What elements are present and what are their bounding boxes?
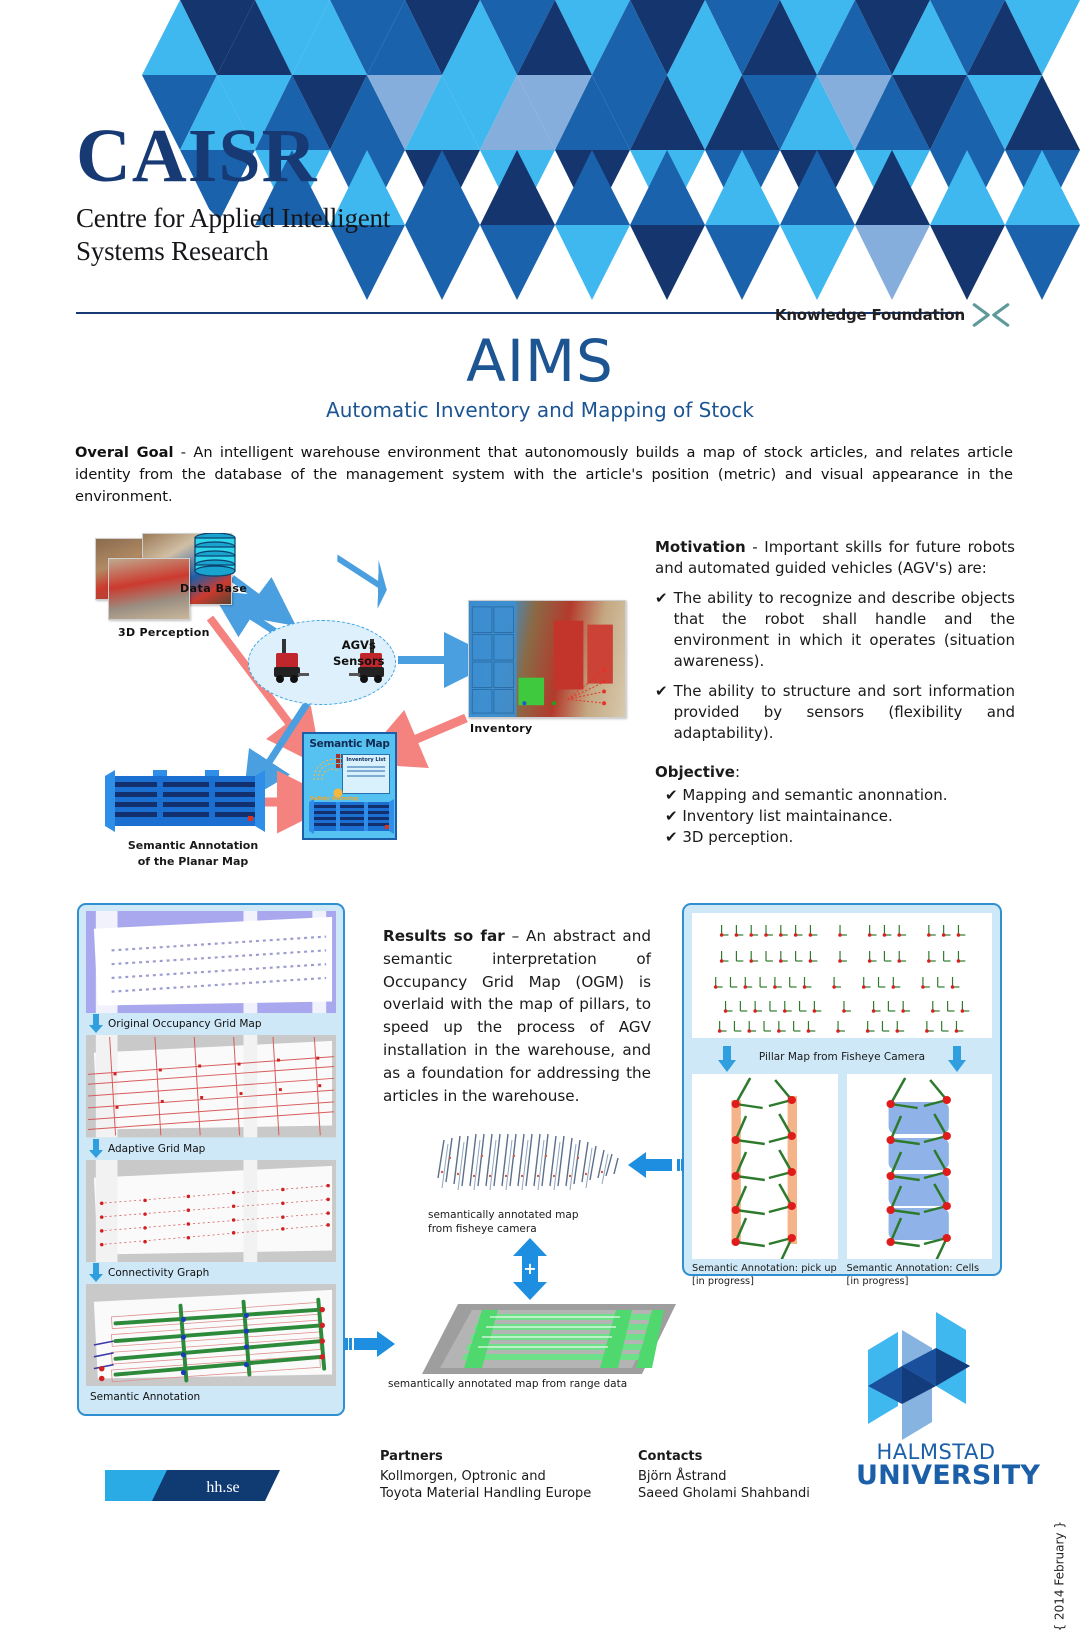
objective-item: ✔ Inventory list maintainance. xyxy=(655,807,1015,825)
caisr-subtitle: Centre for Applied Intelligent Systems R… xyxy=(76,202,776,268)
connectivity-graph-image xyxy=(86,1160,336,1262)
range-map-caption: semantically annotated map from range da… xyxy=(388,1378,627,1390)
motivation-bullet: ✔ The ability to structure and sort info… xyxy=(655,681,1015,745)
overall-goal-label: Overal Goal xyxy=(75,444,173,461)
partners-heading: Partners xyxy=(380,1449,591,1464)
motivation-bullet-text: The ability to recognize and describe ob… xyxy=(674,588,1015,673)
semantic-annotation-pickup-caption: Semantic Annotation: pick up [in progres… xyxy=(692,1263,838,1288)
inventory-photo xyxy=(468,600,626,718)
pipeline-step-caption: Connectivity Graph xyxy=(86,1262,336,1284)
agv-vehicle-icon-1 xyxy=(270,633,310,691)
inventory-label: Inventory xyxy=(470,722,533,735)
planar-map-label: Semantic Annotation of the Planar Map xyxy=(108,838,278,870)
cells-caption-line-2: [in progress] xyxy=(847,1276,993,1289)
results-text: – An abstract and semantic interpretatio… xyxy=(383,927,651,1105)
objective-item-text: Inventory list maintainance. xyxy=(682,807,892,825)
hh-se-logo[interactable]: hh.se xyxy=(105,1470,280,1501)
combine-double-arrow-icon: + xyxy=(505,1238,555,1300)
down-arrow-icon xyxy=(89,1014,103,1033)
knowledge-foundation-chevron-icon xyxy=(972,302,1010,328)
pickup-caption-line-1: Semantic Annotation: pick up xyxy=(692,1263,838,1276)
overall-goal-text: - An intelligent warehouse environment t… xyxy=(75,444,1013,505)
pillar-map-image xyxy=(692,913,992,1038)
fisheye-map-caption: semantically annotated map from fisheye … xyxy=(428,1208,579,1236)
page-title: AIMS xyxy=(0,327,1080,395)
overall-goal-paragraph: Overal Goal - An intelligent warehouse e… xyxy=(75,442,1013,509)
pipeline-caption-text: Adaptive Grid Map xyxy=(108,1143,205,1155)
agv-label-line-2: Sensors xyxy=(333,654,385,670)
planar-label-line-2: of the Planar Map xyxy=(108,854,278,870)
original-occupancy-grid-map-image xyxy=(86,911,336,1013)
hh-se-logo-text: hh.se xyxy=(206,1479,239,1496)
pipeline-step: Connectivity Graph xyxy=(86,1160,336,1284)
down-arrow-icon xyxy=(89,1139,103,1158)
database-label: Data Base xyxy=(180,582,247,595)
pickup-caption-line-2: [in progress] xyxy=(692,1276,838,1289)
knowledge-foundation-label: Knowledge Foundation xyxy=(775,306,965,324)
objective-colon: : xyxy=(735,763,740,781)
pipeline-step-caption: Semantic Annotation xyxy=(86,1386,336,1408)
cells-caption-line-1: Semantic Annotation: Cells xyxy=(847,1263,993,1276)
check-icon: ✔ xyxy=(655,588,668,673)
pipeline-caption-text: Connectivity Graph xyxy=(108,1267,209,1279)
semantic-annotation-pair: Semantic Annotation: pick up [in progres… xyxy=(692,1074,992,1288)
pipeline-step: Original Occupancy Grid Map xyxy=(86,911,336,1035)
pipeline-caption-text: Original Occupancy Grid Map xyxy=(108,1018,262,1030)
inventory-list-row xyxy=(347,770,385,772)
objective-label: Objective xyxy=(655,763,735,781)
check-icon: ✔ xyxy=(665,807,678,825)
partners-line-1: Kollmorgen, Optronic and xyxy=(380,1468,591,1485)
objective-heading: Objective: xyxy=(655,763,1015,781)
motivation-lead: Motivation - Important skills for future… xyxy=(655,537,1015,580)
halmstad-university-wordmark: HALMSTAD UNIVERSITY xyxy=(856,1440,1016,1491)
agv-sensors-label: AGVs Sensors xyxy=(333,638,385,669)
down-arrow-icon xyxy=(948,1046,966,1072)
pipeline-caption-text: Semantic Annotation xyxy=(90,1391,200,1403)
knowledge-foundation-logo: Knowledge Foundation xyxy=(775,302,1010,328)
pipeline-step: Adaptive Grid Map xyxy=(86,1035,336,1159)
motivation-bullet: ✔ The ability to recognize and describe … xyxy=(655,588,1015,673)
caisr-subtitle-line-1: Centre for Applied Intelligent xyxy=(76,202,776,235)
semantic-map-title: Semantic Map xyxy=(304,738,395,750)
pipeline-step: Semantic Annotation xyxy=(86,1284,336,1408)
inventory-list-row xyxy=(347,766,385,768)
poster-date: { 2014 February } xyxy=(1052,1521,1066,1631)
objective-item-text: 3D perception. xyxy=(682,828,793,846)
planar-map-graphic xyxy=(105,770,265,832)
inventory-list-row xyxy=(347,775,385,777)
semantic-annotation-pickup-image xyxy=(692,1074,838,1259)
objective-item: ✔ 3D perception. xyxy=(655,828,1015,846)
university-line-2: UNIVERSITY xyxy=(856,1460,1016,1491)
check-icon: ✔ xyxy=(665,828,678,846)
map-pipeline-panel: Original Occupancy Grid Map xyxy=(77,903,345,1416)
down-arrow-icon xyxy=(718,1046,736,1072)
semantic-map-inventory-list: Inventory List xyxy=(342,754,390,794)
pipeline-step-caption: Adaptive Grid Map xyxy=(86,1138,336,1160)
fisheye-annotated-map-image xyxy=(430,1128,630,1208)
pipeline-step-caption: Original Occupancy Grid Map xyxy=(86,1013,336,1035)
fisheye-caption-line-2: from fisheye camera xyxy=(428,1222,579,1236)
objective-item-text: Mapping and semantic anonnation. xyxy=(682,786,947,804)
motivation-section: Motivation - Important skills for future… xyxy=(655,537,1015,849)
contacts-line-1: Björn Åstrand xyxy=(638,1468,810,1485)
perception-label: 3D Perception xyxy=(118,626,210,639)
semantic-annotation-pickup-block: Semantic Annotation: pick up [in progres… xyxy=(692,1074,838,1288)
page-subtitle: Automatic Inventory and Mapping of Stock xyxy=(0,398,1080,422)
semantic-annotation-cells-caption: Semantic Annotation: Cells [in progress] xyxy=(847,1263,993,1288)
left-arrow-icon xyxy=(628,1150,684,1180)
partners-line-2: Toyota Material Handling Europe xyxy=(380,1485,591,1502)
semantic-map-warning-dot-icon xyxy=(333,788,343,798)
system-overview-diagram: 3D Perception Data Base AGVs Sensors xyxy=(80,530,640,860)
planar-label-line-1: Semantic Annotation xyxy=(108,838,278,854)
motivation-bullet-text: The ability to structure and sort inform… xyxy=(674,681,1015,745)
contacts-line-2: Saeed Gholami Shahbandi xyxy=(638,1485,810,1502)
plus-symbol: + xyxy=(523,1259,536,1278)
perception-photo-3 xyxy=(108,558,190,620)
semantic-annotation-cells-block: Semantic Annotation: Cells [in progress] xyxy=(847,1074,993,1288)
check-icon: ✔ xyxy=(655,681,668,745)
agv-label-line-1: AGVs xyxy=(333,638,385,654)
motivation-label: Motivation xyxy=(655,538,746,556)
inventory-list-title: Inventory List xyxy=(343,757,389,763)
contacts-block: Contacts Björn Åstrand Saeed Gholami Sha… xyxy=(638,1449,810,1503)
semantic-annotation-image xyxy=(86,1284,336,1386)
partners-block: Partners Kollmorgen, Optronic and Toyota… xyxy=(380,1449,591,1503)
pillar-map-panel: Pillar Map from Fisheye Camera xyxy=(682,903,1002,1276)
semantic-map-rack-graphic xyxy=(309,799,394,834)
range-data-annotated-map-image xyxy=(420,1298,678,1378)
contacts-heading: Contacts xyxy=(638,1449,810,1464)
pillar-map-caption: Pillar Map from Fisheye Camera xyxy=(692,1046,992,1063)
semantic-annotation-cells-image xyxy=(847,1074,993,1259)
results-paragraph: Results so far – An abstract and semanti… xyxy=(383,925,651,1107)
caisr-title: CAISR xyxy=(76,120,776,192)
check-icon: ✔ xyxy=(665,786,678,804)
caisr-logo: CAISR Centre for Applied Intelligent Sys… xyxy=(76,120,776,268)
results-label: Results so far xyxy=(383,927,505,945)
semantic-map-card: Semantic Map Inventory List Safety Warni… xyxy=(302,732,397,840)
caisr-subtitle-line-2: Systems Research xyxy=(76,235,776,268)
objective-item: ✔ Mapping and semantic anonnation. xyxy=(655,786,1015,804)
right-arrow-icon xyxy=(345,1330,395,1358)
fisheye-caption-line-1: semantically annotated map xyxy=(428,1208,579,1222)
database-cylinder-icon xyxy=(193,533,237,578)
adaptive-grid-map-image xyxy=(86,1035,336,1137)
halmstad-university-mark-icon xyxy=(858,1308,1013,1443)
down-arrow-icon xyxy=(89,1263,103,1282)
